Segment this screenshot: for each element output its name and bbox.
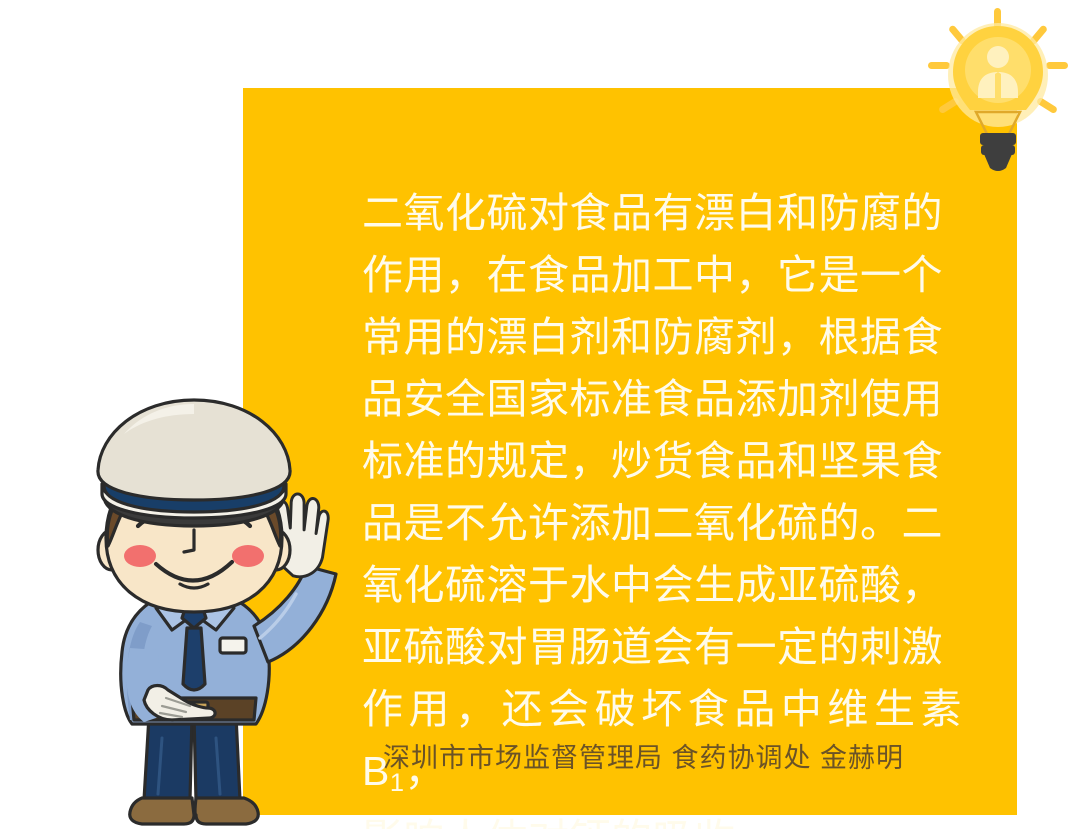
body-text: 二氧化硫对食品有漂白和防腐的作用，在食品加工中，它是一个常用的漂白剂和防腐剂，根… (362, 182, 962, 829)
lightbulb-base (980, 133, 1016, 171)
officer-left-cheek (124, 545, 156, 567)
officer-right-shoe (195, 798, 258, 824)
attribution-credit: 深圳市市场监督管理局 食药协调处 金赫明 (383, 736, 904, 775)
body-line: 亚硫酸对胃肠道会有一定的刺激 (362, 624, 943, 670)
body-line: 二氧化硫对食品有漂白和防腐的 (362, 190, 943, 236)
body-line: 氧化硫溶于水中会生成亚硫酸， (362, 562, 943, 608)
body-line: 品是不允许添加二氧化硫的。二 (362, 500, 943, 546)
officer-tie (183, 628, 205, 690)
officer-cap-crown (98, 400, 290, 500)
body-line: 标准的规定，炒货食品和坚果食 (362, 438, 943, 484)
police-officer-illustration (44, 398, 344, 829)
lightbulb-icon (918, 2, 1078, 174)
body-line: 影响人体对钙的吸收。 (362, 816, 777, 829)
body-line: 常用的漂白剂和防腐剂，根据食 (362, 314, 943, 360)
body-line: 品安全国家标准食品添加剂使用 (362, 376, 943, 422)
officer-right-cheek (232, 545, 264, 567)
officer-left-leg (144, 716, 192, 808)
officer-left-shoe (130, 798, 194, 824)
body-line: 作用，在食品加工中，它是一个 (362, 252, 943, 298)
officer-name-badge (220, 638, 246, 653)
poster-canvas: 二氧化硫对食品有漂白和防腐的作用，在食品加工中，它是一个常用的漂白剂和防腐剂，根… (0, 0, 1080, 829)
